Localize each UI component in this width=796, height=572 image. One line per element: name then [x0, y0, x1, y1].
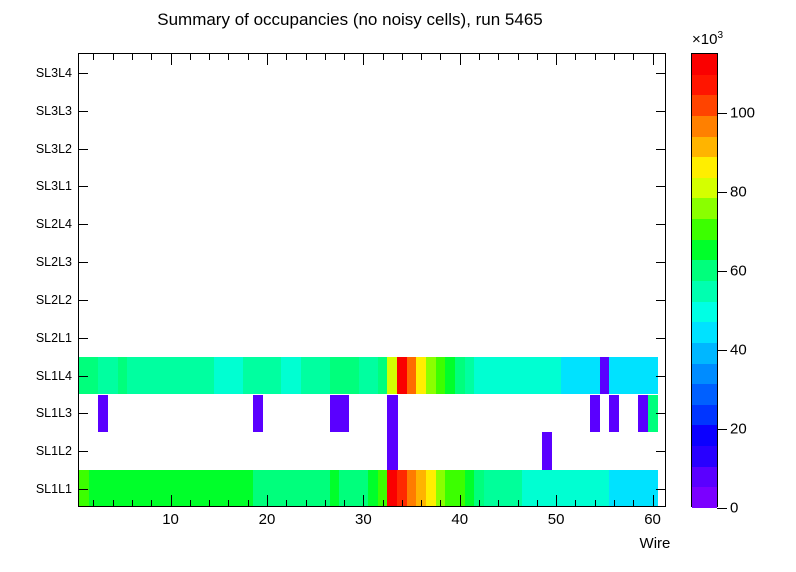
y-axis-label-sl2l2: SL2L2 — [36, 293, 72, 307]
palette-band — [692, 487, 717, 508]
x-axis-top-tick — [383, 54, 384, 60]
heatmap-cell — [638, 395, 648, 433]
heatmap-cell — [455, 357, 465, 395]
y-axis-label-sl1l1: SL1L1 — [36, 482, 72, 496]
x-axis-top-tick — [93, 54, 94, 60]
heatmap-cell — [387, 357, 397, 395]
palette-label-80: 80 — [730, 184, 747, 201]
x-axis-top-tick — [363, 54, 364, 65]
x-axis-top-tick — [402, 54, 403, 60]
palette-band — [692, 137, 717, 158]
heatmap-cell — [291, 470, 301, 506]
x-axis-top-tick — [171, 54, 172, 65]
heatmap-cell — [551, 357, 561, 395]
y-axis-label-sl2l1: SL2L1 — [36, 331, 72, 345]
heatmap-cell — [465, 470, 475, 506]
heatmap-cell — [638, 357, 648, 395]
palette-band — [692, 343, 717, 364]
x-axis-minor-tick — [209, 500, 210, 506]
x-axis-minor-tick — [614, 500, 615, 506]
palette-band — [692, 198, 717, 219]
palette-label-40: 40 — [730, 342, 747, 359]
heatmap-cell — [522, 470, 532, 506]
palette-tick — [717, 429, 727, 430]
heatmap-cell — [98, 470, 108, 506]
palette-label-60: 60 — [730, 263, 747, 280]
heatmap-cell — [253, 395, 263, 433]
plot-frame: SL1L1SL1L2SL1L3SL1L4SL2L1SL2L2SL2L3SL2L4… — [78, 53, 666, 507]
y-axis-tick-right — [656, 376, 665, 377]
x-axis-minor-tick — [325, 500, 326, 506]
x-axis-label-40: 40 — [451, 511, 468, 528]
heatmap-cell — [436, 357, 446, 395]
x-axis-top-tick — [421, 54, 422, 60]
heatmap-cell — [330, 470, 340, 506]
heatmap-cell — [465, 357, 475, 395]
x-axis-major-tick — [171, 495, 172, 506]
x-axis-top-tick — [575, 54, 576, 60]
y-axis-tick-right — [656, 224, 665, 225]
heatmap-cell — [387, 395, 397, 433]
x-axis-major-tick — [460, 495, 461, 506]
heatmap-cell — [281, 357, 291, 395]
heatmap-cell — [262, 357, 272, 395]
heatmap-cell — [204, 357, 214, 395]
x-axis-minor-tick — [595, 500, 596, 506]
heatmap-cell — [561, 470, 571, 506]
heatmap-cell — [542, 470, 552, 506]
heatmap-cell — [503, 470, 513, 506]
heatmap-cell — [368, 470, 378, 506]
heatmap-cell — [127, 357, 137, 395]
heatmap-cell — [339, 357, 349, 395]
heatmap-cell — [571, 357, 581, 395]
heatmap-cell — [89, 357, 99, 395]
palette-band — [692, 54, 717, 75]
heatmap-cell — [349, 357, 359, 395]
y-axis-label-sl3l1: SL3L1 — [36, 179, 72, 193]
x-axis-top-tick — [595, 54, 596, 60]
x-axis-minor-tick — [518, 500, 519, 506]
x-axis-title: Wire — [640, 535, 671, 552]
x-axis-top-tick — [151, 54, 152, 60]
x-axis-minor-tick — [440, 500, 441, 506]
x-axis-minor-tick — [190, 500, 191, 506]
x-axis-major-tick — [363, 495, 364, 506]
heatmap-cell — [387, 432, 397, 470]
chart-canvas: Summary of occupancies (no noisy cells),… — [0, 0, 796, 572]
x-axis-minor-tick — [228, 500, 229, 506]
heatmap-cell — [359, 357, 369, 395]
heatmap-cell — [638, 470, 648, 506]
palette-tick — [717, 350, 727, 351]
palette-exponent: ×103 — [692, 30, 723, 48]
palette-band — [692, 240, 717, 261]
x-axis-top-tick — [479, 54, 480, 60]
y-axis-tick — [79, 262, 88, 263]
x-axis-top-tick — [556, 54, 557, 65]
heatmap-cell — [272, 470, 282, 506]
heatmap-cell — [253, 470, 263, 506]
heatmap-cell — [156, 470, 166, 506]
x-axis-top-tick — [633, 54, 634, 60]
heatmap-cell — [79, 470, 89, 506]
y-axis-tick — [79, 338, 88, 339]
heatmap-cell — [542, 432, 552, 470]
palette-band — [692, 260, 717, 281]
x-axis-top-tick — [440, 54, 441, 60]
y-axis-tick — [79, 224, 88, 225]
x-axis-top-tick — [286, 54, 287, 60]
y-axis-label-sl1l3: SL1L3 — [36, 406, 72, 420]
palette-band — [692, 157, 717, 178]
heatmap-cell — [339, 395, 349, 433]
heatmap-cell — [426, 470, 436, 506]
x-axis-minor-tick — [498, 500, 499, 506]
y-axis-tick-right — [656, 451, 665, 452]
x-axis-minor-tick — [633, 500, 634, 506]
heatmap-cell — [310, 470, 320, 506]
heatmap-cell — [522, 357, 532, 395]
heatmap-cell — [426, 357, 436, 395]
x-axis-label-10: 10 — [162, 511, 179, 528]
heatmap-cell — [378, 357, 388, 395]
x-axis-minor-tick — [537, 500, 538, 506]
palette-band — [692, 322, 717, 343]
palette-band — [692, 384, 717, 405]
x-axis-top-tick — [518, 54, 519, 60]
heatmap-cell — [137, 357, 147, 395]
x-axis-major-tick — [556, 495, 557, 506]
palette-band — [692, 364, 717, 385]
heatmap-cell — [118, 470, 128, 506]
y-axis-tick-right — [656, 300, 665, 301]
palette-band — [692, 405, 717, 426]
heatmap-cell — [561, 357, 571, 395]
heatmap-cell — [484, 470, 494, 506]
heatmap-cell — [349, 470, 359, 506]
y-axis-tick-right — [656, 489, 665, 490]
heatmap-cell — [310, 357, 320, 395]
y-axis-tick-right — [656, 338, 665, 339]
heatmap-cell — [175, 470, 185, 506]
y-axis-label-sl3l4: SL3L4 — [36, 66, 72, 80]
y-axis-label-sl3l3: SL3L3 — [36, 104, 72, 118]
x-axis-top-tick — [653, 54, 654, 65]
heatmap-cell — [118, 357, 128, 395]
heatmap-cell — [387, 470, 397, 506]
heatmap-cell — [98, 357, 108, 395]
palette-band — [692, 95, 717, 116]
heatmap-cell — [243, 357, 253, 395]
heatmap-cells — [79, 54, 665, 506]
color-palette-bar[interactable]: 020406080100 — [691, 53, 718, 507]
heatmap-cell — [233, 470, 243, 506]
heatmap-cell — [600, 470, 610, 506]
heatmap-cell — [590, 395, 600, 433]
y-axis-tick — [79, 376, 88, 377]
y-axis-tick — [79, 300, 88, 301]
palette-tick — [717, 508, 727, 509]
heatmap-cell — [619, 470, 629, 506]
x-axis-major-tick — [653, 495, 654, 506]
heatmap-cell — [600, 357, 610, 395]
x-axis-top-tick — [498, 54, 499, 60]
heatmap-cell — [580, 470, 590, 506]
x-axis-top-tick — [228, 54, 229, 60]
x-axis-major-tick — [267, 495, 268, 506]
heatmap-cell — [397, 357, 407, 395]
x-axis-top-tick — [113, 54, 114, 60]
heatmap-cell — [542, 357, 552, 395]
heatmap-cell — [108, 357, 118, 395]
y-axis-tick — [79, 73, 88, 74]
x-axis-label-50: 50 — [548, 511, 565, 528]
y-axis-tick-right — [656, 186, 665, 187]
heatmap-cell — [590, 357, 600, 395]
x-axis-top-tick — [537, 54, 538, 60]
x-axis-top-tick — [344, 54, 345, 60]
heatmap-cell — [445, 470, 455, 506]
heatmap-cell — [137, 470, 147, 506]
heatmap-cell — [291, 357, 301, 395]
x-axis-minor-tick — [479, 500, 480, 506]
x-axis-label-60: 60 — [644, 511, 661, 528]
palette-band — [692, 75, 717, 96]
y-axis-tick-right — [656, 149, 665, 150]
heatmap-cell — [330, 357, 340, 395]
heatmap-cell — [214, 357, 224, 395]
palette-band — [692, 281, 717, 302]
x-axis-minor-tick — [151, 500, 152, 506]
x-axis-top-tick — [248, 54, 249, 60]
y-axis-tick-right — [656, 111, 665, 112]
x-axis-minor-tick — [383, 500, 384, 506]
x-axis-minor-tick — [93, 500, 94, 506]
x-axis-top-tick — [209, 54, 210, 60]
palette-band — [692, 219, 717, 240]
heatmap-cell — [98, 395, 108, 433]
y-axis-label-sl2l4: SL2L4 — [36, 217, 72, 231]
heatmap-cell — [416, 357, 426, 395]
heatmap-cell — [175, 357, 185, 395]
palette-band — [692, 178, 717, 199]
palette-tick — [717, 113, 727, 114]
x-axis-minor-tick — [344, 500, 345, 506]
x-axis-minor-tick — [248, 500, 249, 506]
palette-label-0: 0 — [730, 500, 738, 517]
heatmap-cell — [195, 470, 205, 506]
y-axis-label-sl3l2: SL3L2 — [36, 142, 72, 156]
heatmap-cell — [619, 357, 629, 395]
heatmap-cell — [407, 357, 417, 395]
y-axis-label-sl1l2: SL1L2 — [36, 444, 72, 458]
y-axis-label-sl1l4: SL1L4 — [36, 369, 72, 383]
heatmap-cell — [301, 357, 311, 395]
y-axis-tick-right — [656, 73, 665, 74]
y-axis-label-sl2l3: SL2L3 — [36, 255, 72, 269]
heatmap-cell — [272, 357, 282, 395]
palette-exponent-value: 3 — [717, 30, 723, 41]
x-axis-top-tick — [190, 54, 191, 60]
x-axis-minor-tick — [421, 500, 422, 506]
x-axis-label-20: 20 — [259, 511, 276, 528]
heatmap-cell — [609, 395, 619, 433]
heatmap-cell — [233, 357, 243, 395]
y-axis-tick — [79, 111, 88, 112]
y-axis-tick — [79, 413, 88, 414]
heatmap-cell — [224, 357, 234, 395]
x-axis-minor-tick — [306, 500, 307, 506]
heatmap-cell — [580, 357, 590, 395]
heatmap-cell — [445, 357, 455, 395]
y-axis-tick-right — [656, 413, 665, 414]
palette-tick — [717, 192, 727, 193]
palette-label-100: 100 — [730, 105, 755, 122]
heatmap-cell — [493, 357, 503, 395]
heatmap-cell — [253, 357, 263, 395]
heatmap-cell — [146, 357, 156, 395]
palette-tick — [717, 271, 727, 272]
x-axis-top-tick — [325, 54, 326, 60]
palette-multiplier: ×10 — [692, 31, 717, 48]
heatmap-cell — [166, 357, 176, 395]
heatmap-cell — [609, 357, 619, 395]
heatmap-cell — [484, 357, 494, 395]
x-axis-minor-tick — [132, 500, 133, 506]
heatmap-cell — [513, 357, 523, 395]
y-axis-tick — [79, 489, 88, 490]
x-axis-minor-tick — [575, 500, 576, 506]
heatmap-cell — [330, 395, 340, 433]
palette-band — [692, 467, 717, 488]
heatmap-cell — [474, 357, 484, 395]
heatmap-cell — [195, 357, 205, 395]
x-axis-top-tick — [614, 54, 615, 60]
heatmap-cell — [532, 357, 542, 395]
heatmap-cell — [503, 357, 513, 395]
x-axis-minor-tick — [402, 500, 403, 506]
heatmap-cell — [320, 357, 330, 395]
palette-band — [692, 302, 717, 323]
heatmap-cell — [368, 357, 378, 395]
heatmap-cell — [628, 357, 638, 395]
x-axis-minor-tick — [286, 500, 287, 506]
y-axis-tick — [79, 186, 88, 187]
y-axis-tick — [79, 451, 88, 452]
heatmap-cell — [407, 470, 417, 506]
heatmap-cell — [214, 470, 224, 506]
x-axis-label-30: 30 — [355, 511, 372, 528]
palette-label-20: 20 — [730, 421, 747, 438]
heatmap-cell — [156, 357, 166, 395]
x-axis-top-tick — [132, 54, 133, 60]
x-axis-top-tick — [267, 54, 268, 65]
palette-band — [692, 446, 717, 467]
heatmap-cell — [185, 357, 195, 395]
y-axis-tick-right — [656, 262, 665, 263]
x-axis-top-tick — [460, 54, 461, 65]
y-axis-tick — [79, 149, 88, 150]
palette-band — [692, 425, 717, 446]
chart-title: Summary of occupancies (no noisy cells),… — [0, 10, 700, 30]
x-axis-minor-tick — [113, 500, 114, 506]
palette-band — [692, 116, 717, 137]
x-axis-top-tick — [306, 54, 307, 60]
